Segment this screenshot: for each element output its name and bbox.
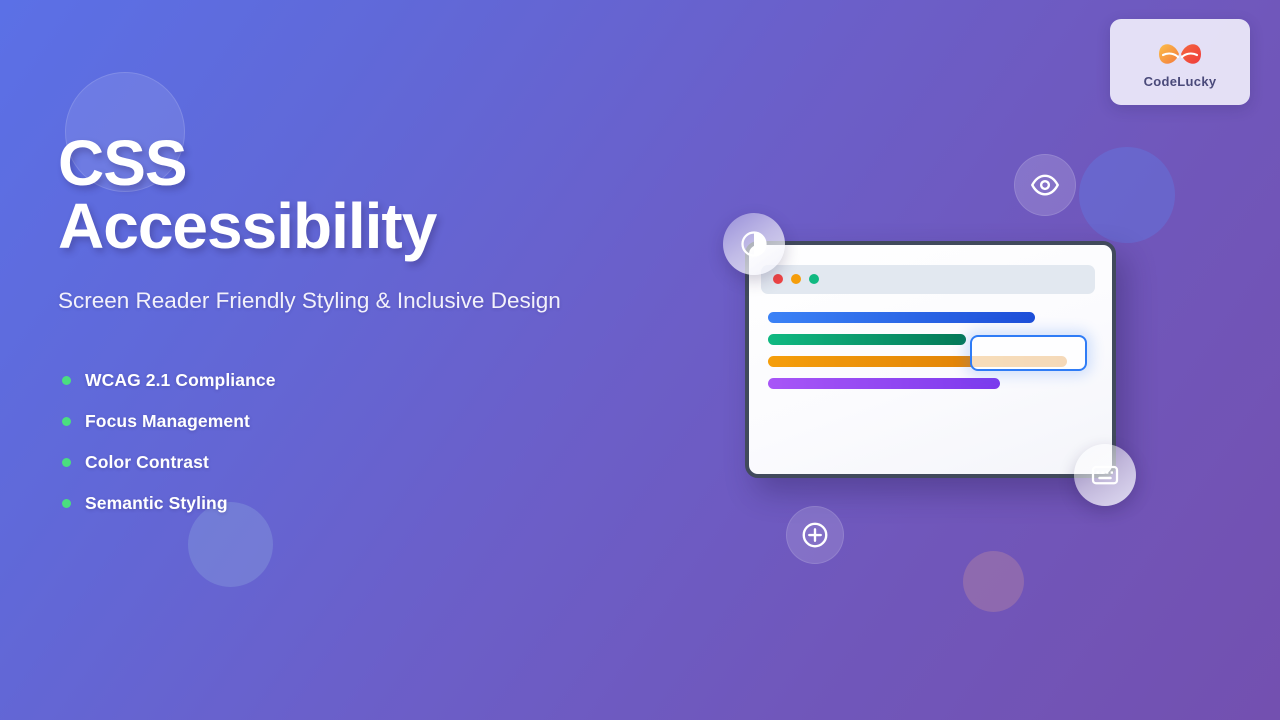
slide-canvas: CSS Accessibility Screen Reader Friendly… <box>0 0 1280 720</box>
contrast-icon <box>739 229 769 259</box>
feature-list: WCAG 2.1 Compliance Focus Management Col… <box>58 360 668 524</box>
contrast-icon-badge[interactable] <box>723 213 785 275</box>
bullet-dot-icon <box>62 458 71 467</box>
content-bar-green <box>768 334 966 345</box>
page-title-line-1: CSS <box>58 132 668 195</box>
minimize-dot-icon[interactable] <box>791 274 801 284</box>
list-item: WCAG 2.1 Compliance <box>58 360 668 401</box>
bullet-dot-icon <box>62 417 71 426</box>
maximize-dot-icon[interactable] <box>809 274 819 284</box>
feature-label: Semantic Styling <box>85 493 228 514</box>
decorative-circle-right-blue <box>1079 147 1175 243</box>
content-bar-purple <box>768 378 1000 389</box>
eye-icon-badge[interactable] <box>1014 154 1076 216</box>
list-item: Focus Management <box>58 401 668 442</box>
bullet-dot-icon <box>62 499 71 508</box>
slide-text-column: CSS Accessibility Screen Reader Friendly… <box>58 132 668 524</box>
focus-ring-outline[interactable] <box>970 335 1087 371</box>
window-control-dots <box>773 274 819 284</box>
decorative-circle-mauve <box>963 551 1024 612</box>
close-dot-icon[interactable] <box>773 274 783 284</box>
browser-titlebar <box>761 265 1095 294</box>
feature-label: Focus Management <box>85 411 250 432</box>
plus-circle-icon <box>800 520 830 550</box>
brand-logo-card: CodeLucky <box>1110 19 1250 105</box>
list-item: Color Contrast <box>58 442 668 483</box>
feature-label: Color Contrast <box>85 452 209 473</box>
page-subtitle: Screen Reader Friendly Styling & Inclusi… <box>58 283 598 319</box>
feature-label: WCAG 2.1 Compliance <box>85 370 276 391</box>
keyboard-icon <box>1090 460 1120 490</box>
page-title-line-2: Accessibility <box>58 195 668 258</box>
browser-window-mockup <box>745 241 1116 478</box>
infinity-leaf-logo-icon <box>1150 35 1210 73</box>
list-item: Semantic Styling <box>58 483 668 524</box>
bullet-dot-icon <box>62 376 71 385</box>
eye-icon <box>1030 170 1060 200</box>
keyboard-icon-badge[interactable] <box>1074 444 1136 506</box>
content-bar-blue <box>768 312 1035 323</box>
brand-name: CodeLucky <box>1144 74 1217 89</box>
page-title: CSS Accessibility <box>58 132 668 259</box>
plus-circle-icon-badge[interactable] <box>786 506 844 564</box>
